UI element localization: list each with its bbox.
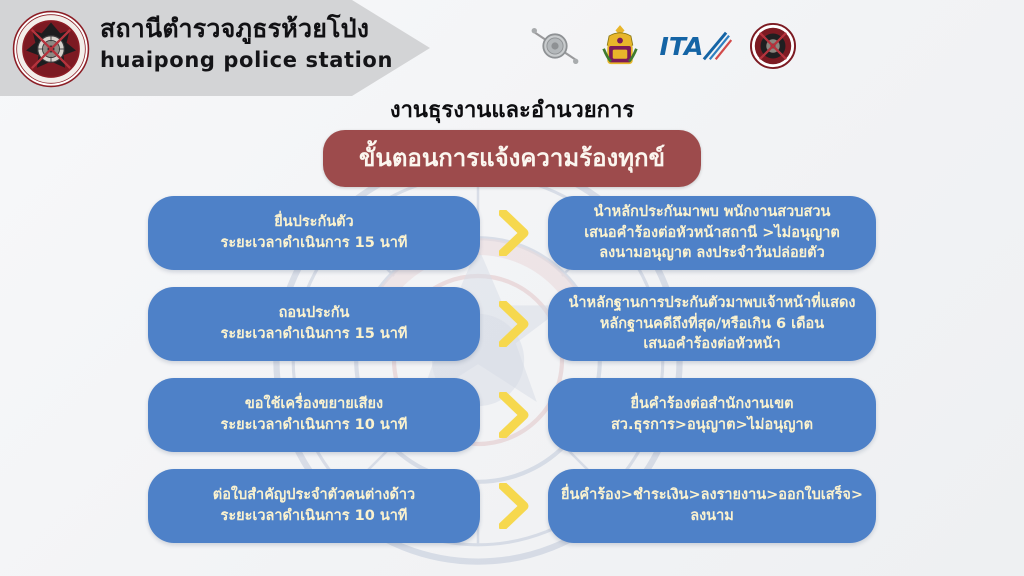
flow-step-left[interactable]: ต่อใบสำคัญประจำตัวคนต่างด้าว ระยะเวลาดำเ… <box>148 469 480 543</box>
flow-step-line: ระยะเวลาดำเนินการ 15 นาที <box>221 233 408 254</box>
flow-step-line: ระยะเวลาดำเนินการ 15 นาที <box>221 324 408 345</box>
process-flow-diagram: ยื่นประกันตัว ระยะเวลาดำเนินการ 15 นาที … <box>0 196 1024 560</box>
flow-step-line: ขอใช้เครื่องขยายเสียง <box>245 394 383 415</box>
flow-step-line: ถอนประกัน <box>279 303 350 324</box>
flow-row: ถอนประกัน ระยะเวลาดำเนินการ 15 นาที นำหล… <box>0 287 1024 361</box>
flow-step-line: ระยะเวลาดำเนินการ 10 นาที <box>221 506 408 527</box>
flow-row: ยื่นประกันตัว ระยะเวลาดำเนินการ 15 นาที … <box>0 196 1024 270</box>
flow-row: ขอใช้เครื่องขยายเสียง ระยะเวลาดำเนินการ … <box>0 378 1024 452</box>
flow-step-line: ระยะเวลาดำเนินการ 10 นาที <box>221 415 408 436</box>
flow-step-right[interactable]: ยื่นคำร้อง>ชำระเงิน>ลงรายงาน>ออกใบเสร็จ>… <box>548 469 876 543</box>
flow-step-line: เสนอคำร้องต่อหัวหน้า <box>643 334 780 355</box>
flow-step-line: ยื่นประกันตัว <box>274 212 353 233</box>
provincial-police-seal-icon <box>750 23 796 69</box>
royal-thai-police-insignia-icon <box>528 24 582 68</box>
flow-row: ต่อใบสำคัญประจำตัวคนต่างด้าว ระยะเวลาดำเ… <box>0 469 1024 543</box>
flow-step-line: ลงนามอนุญาต ลงประจำวันปล่อยตัว <box>599 243 824 264</box>
flow-step-line: เสนอคำร้องต่อหัวหน้าสถานี >ไม่อนุญาต <box>584 223 840 244</box>
station-name-english: huaipong police station <box>100 48 393 74</box>
flow-step-right[interactable]: นำหลักฐานการประกันตัวมาพบเจ้าหน้าที่แสดง… <box>548 287 876 361</box>
slide-canvas: สถานีตำรวจภูธรห้วยโป่ง huaipong police s… <box>0 0 1024 576</box>
partner-logo-strip: ITA <box>528 17 796 75</box>
chevron-right-icon <box>492 210 536 256</box>
flow-step-line: นำหลักฐานการประกันตัวมาพบเจ้าหน้าที่แสดง <box>569 293 856 314</box>
chevron-right-icon <box>492 392 536 438</box>
svg-text:ITA: ITA <box>659 32 703 61</box>
police-badge-icon <box>12 10 90 88</box>
thai-garuda-emblem-icon <box>600 23 640 69</box>
flow-step-line: ลงนาม <box>690 506 734 527</box>
flow-step-right[interactable]: นำหลักประกันมาพบ พนักงานสวบสวน เสนอคำร้อ… <box>548 196 876 270</box>
flow-step-line: ยื่นคำร้อง>ชำระเงิน>ลงรายงาน>ออกใบเสร็จ> <box>561 485 863 506</box>
section-title: งานธุรงานและอำนวยการ <box>0 92 1024 127</box>
station-name-thai: สถานีตำรวจภูธรห้วยโป่ง <box>100 14 393 45</box>
header-title-group: สถานีตำรวจภูธรห้วยโป่ง huaipong police s… <box>100 14 393 73</box>
flow-step-left[interactable]: ขอใช้เครื่องขยายเสียง ระยะเวลาดำเนินการ … <box>148 378 480 452</box>
flow-step-line: นำหลักประกันมาพบ พนักงานสวบสวน <box>594 202 831 223</box>
process-title-pill: ขั้นตอนการแจ้งความร้องทุกข์ <box>323 130 701 187</box>
flow-step-left[interactable]: ยื่นประกันตัว ระยะเวลาดำเนินการ 15 นาที <box>148 196 480 270</box>
flow-step-left[interactable]: ถอนประกัน ระยะเวลาดำเนินการ 15 นาที <box>148 287 480 361</box>
flow-step-right[interactable]: ยื่นคำร้องต่อสำนักงานเขต สว.ธุรการ>อนุญา… <box>548 378 876 452</box>
ita-logo-icon: ITA <box>658 28 732 64</box>
flow-step-line: สว.ธุรการ>อนุญาต>ไม่อนุญาต <box>611 415 813 436</box>
flow-step-line: ต่อใบสำคัญประจำตัวคนต่างด้าว <box>213 485 415 506</box>
chevron-right-icon <box>492 483 536 529</box>
flow-step-line: ยื่นคำร้องต่อสำนักงานเขต <box>630 394 793 415</box>
flow-step-line: หลักฐานคดีถึงที่สุด/หรือเกิน 6 เดือน <box>600 314 824 335</box>
chevron-right-icon <box>492 301 536 347</box>
